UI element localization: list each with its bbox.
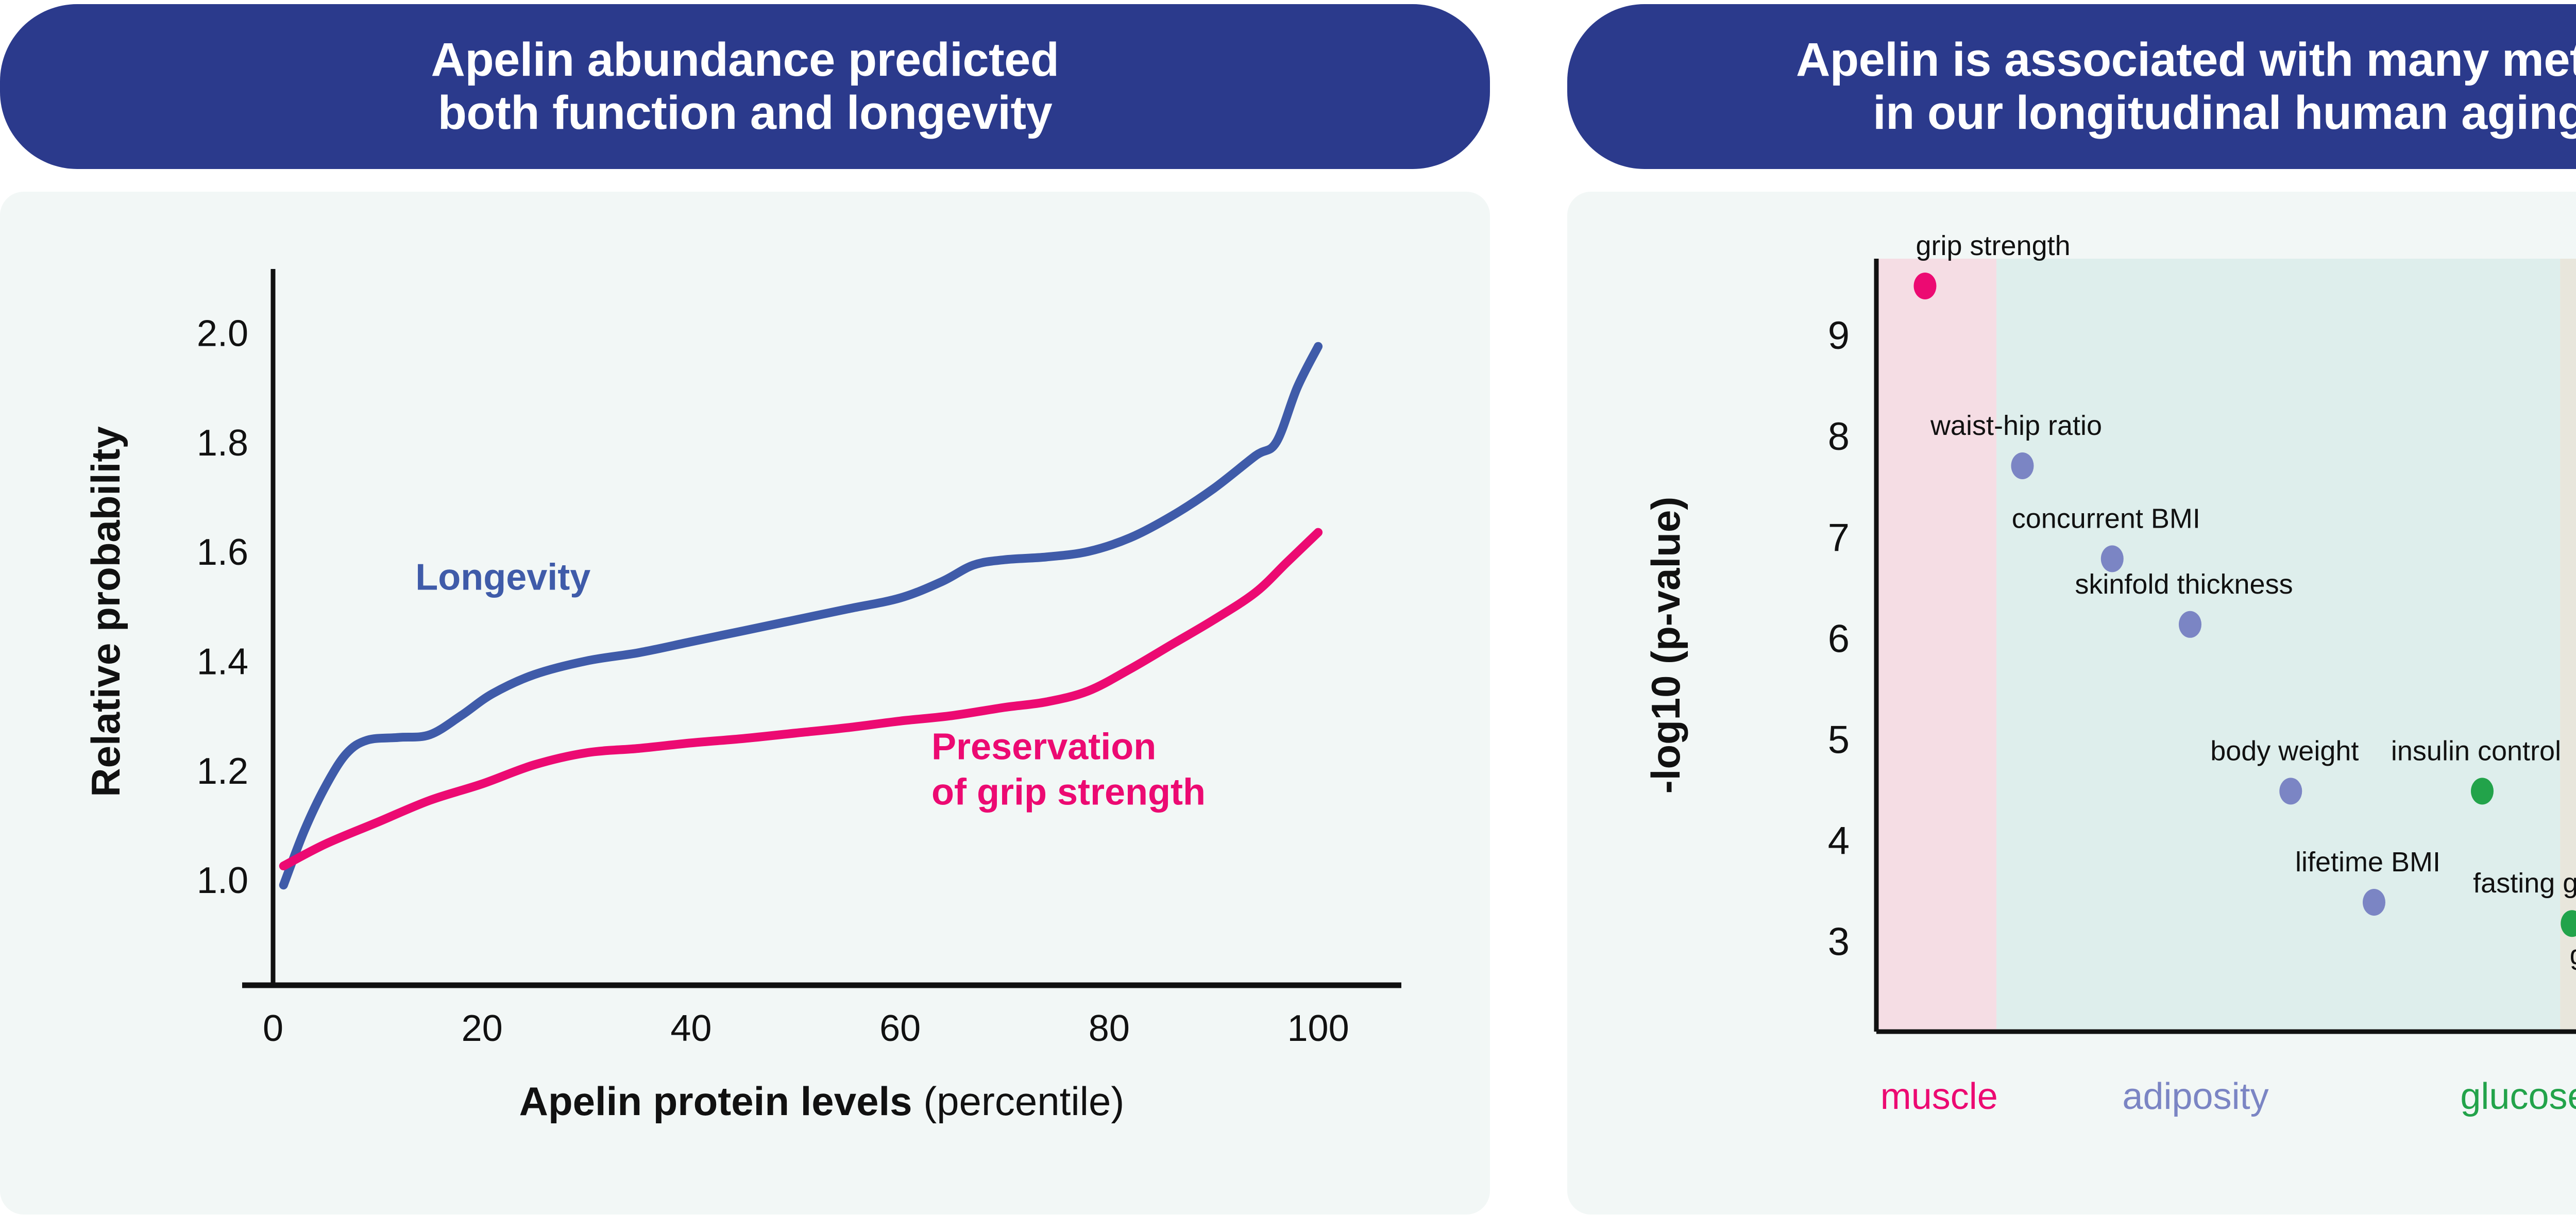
point-label: body weight: [2210, 735, 2359, 766]
point-label: glucose control: [2570, 939, 2576, 970]
data-point-insulin-control[interactable]: [2471, 778, 2494, 804]
x-axis-title-light: (percentile): [923, 1079, 1124, 1124]
data-point-skinfold-thickness[interactable]: [2179, 611, 2201, 638]
y-tick-label: 9: [1828, 314, 1850, 358]
y-axis-title: Relative probability: [83, 426, 128, 797]
y-tick-label: 1.2: [197, 751, 248, 792]
x-tick-label: 40: [670, 1008, 711, 1049]
left-banner: Apelin abundance predicted both function…: [0, 4, 1490, 169]
category-label-muscle: muscle: [1880, 1076, 1998, 1117]
point-label: grip strength: [1916, 230, 2071, 261]
data-point-waist-hip-ratio[interactable]: [2011, 452, 2034, 479]
point-label: waist-hip ratio: [1930, 410, 2102, 441]
y-tick-label: 8: [1828, 415, 1850, 459]
point-label: concurrent BMI: [2012, 503, 2200, 534]
y-tick-label: 1.0: [197, 860, 248, 901]
category-label-glucose-control: glucose control: [2460, 1076, 2576, 1117]
y-tick-label: 5: [1828, 718, 1850, 762]
data-point-concurrent-BMI[interactable]: [2101, 545, 2124, 572]
band-muscle: [1876, 259, 1996, 1032]
y-tick-label: 3: [1828, 920, 1850, 964]
y-tick-label: 7: [1828, 516, 1850, 560]
series-label: Longevity: [415, 557, 590, 598]
band-adiposity: [1996, 259, 2560, 1032]
y-tick-label: 1.8: [197, 423, 248, 464]
point-label: fasting glucose: [2473, 868, 2576, 899]
right-banner: Apelin is associated with many metabolic…: [1567, 4, 2576, 169]
left-chart-card: 1.01.21.41.61.82.0020406080100Relative p…: [0, 192, 1490, 1215]
data-point-lifetime-BMI[interactable]: [2363, 889, 2385, 916]
category-label-adiposity: adiposity: [2122, 1076, 2268, 1117]
point-label: lifetime BMI: [2295, 847, 2441, 878]
x-axis-title: Apelin protein levels (percentile): [519, 1079, 1125, 1124]
x-tick-label: 100: [1287, 1008, 1349, 1049]
panel-left: Apelin abundance predicted both function…: [0, 0, 1531, 1230]
y-tick-label: 1.4: [197, 642, 248, 683]
series-label: Preservation: [931, 727, 1156, 768]
figure-board: Apelin abundance predicted both function…: [0, 0, 2576, 1230]
y-axis-title: -log10 (p-value): [1643, 497, 1688, 794]
x-tick-label: 60: [879, 1008, 921, 1049]
x-tick-label: 0: [263, 1008, 283, 1049]
right-chart-card: 3456789-log10 (p-value)grip strengthwais…: [1567, 192, 2576, 1215]
point-label: insulin control: [2391, 735, 2561, 766]
x-axis-title-bold: Apelin protein levels: [519, 1079, 924, 1124]
y-tick-label: 6: [1828, 617, 1850, 661]
metabolic-traits-scatter-chart: 3456789-log10 (p-value)grip strengthwais…: [1567, 192, 2576, 1215]
data-point-grip-strength[interactable]: [1914, 273, 1937, 299]
point-label: skinfold thickness: [2075, 569, 2293, 600]
y-tick-label: 2.0: [197, 313, 248, 355]
data-point-body-weight[interactable]: [2279, 778, 2302, 804]
x-tick-label: 20: [462, 1008, 503, 1049]
right-banner-title: Apelin is associated with many metabolic…: [1796, 33, 2576, 140]
left-banner-title: Apelin abundance predicted both function…: [431, 33, 1059, 140]
series-label: of grip strength: [931, 772, 1206, 813]
x-tick-label: 80: [1089, 1008, 1130, 1049]
relative-probability-line-chart: 1.01.21.41.61.82.0020406080100Relative p…: [0, 192, 1490, 1215]
panel-right: Apelin is associated with many metabolic…: [1556, 0, 2576, 1230]
y-tick-label: 1.6: [197, 532, 248, 573]
y-tick-label: 4: [1828, 819, 1850, 863]
